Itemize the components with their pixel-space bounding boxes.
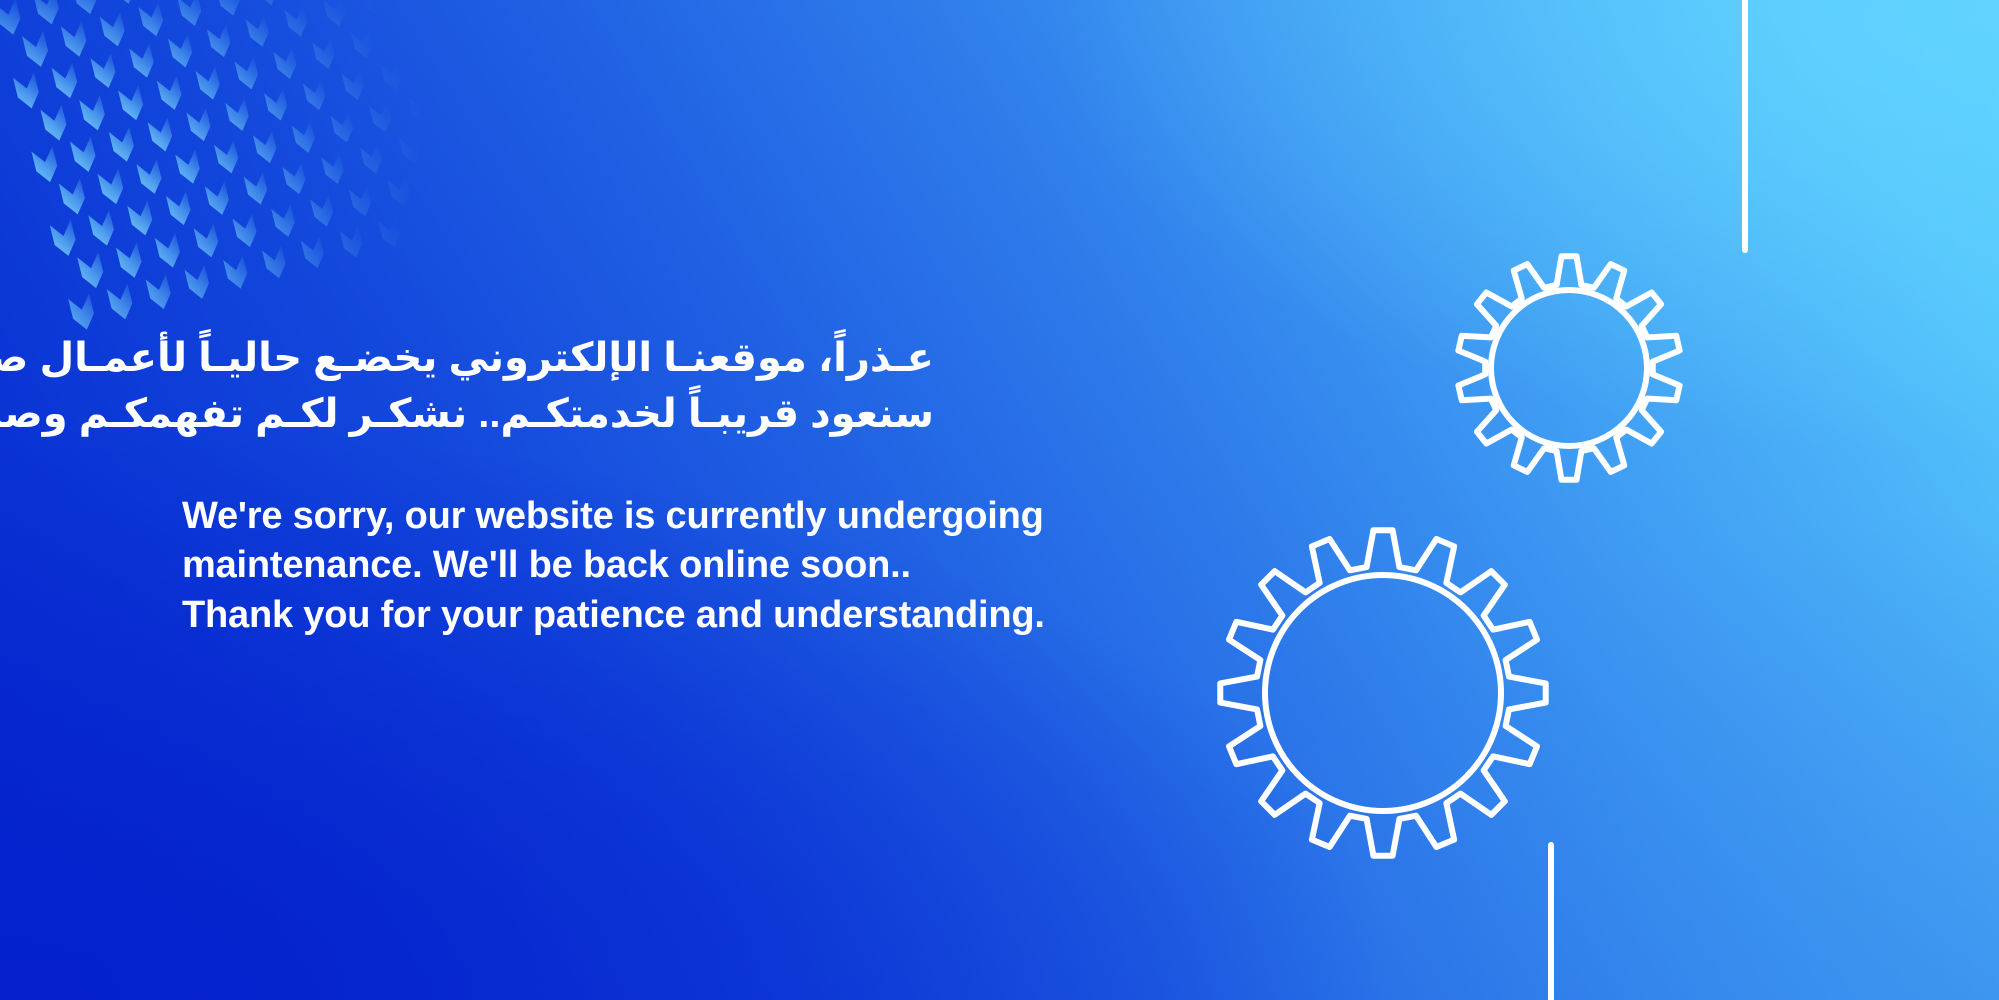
arabic-line-1: عـذراً، موقعنـا الإلكتروني يخضـع حاليـاً…: [182, 330, 934, 386]
maintenance-page: عـذراً، موقعنـا الإلكتروني يخضـع حاليـاً…: [0, 0, 1999, 1000]
message-block: عـذراً، موقعنـا الإلكتروني يخضـع حاليـاً…: [182, 330, 1192, 640]
english-line-1: We're sorry, our website is currently un…: [182, 492, 1192, 541]
english-message: We're sorry, our website is currently un…: [182, 492, 1192, 640]
english-line-2: maintenance. We'll be back online soon..: [182, 541, 1192, 590]
arabic-message: عـذراً، موقعنـا الإلكتروني يخضـع حاليـاً…: [182, 330, 934, 442]
arabic-line-2: سنعود قريبـاً لخدمتكـم.. نشكـر لكـم تفهم…: [182, 386, 934, 442]
english-line-3: Thank you for your patience and understa…: [182, 591, 1192, 640]
